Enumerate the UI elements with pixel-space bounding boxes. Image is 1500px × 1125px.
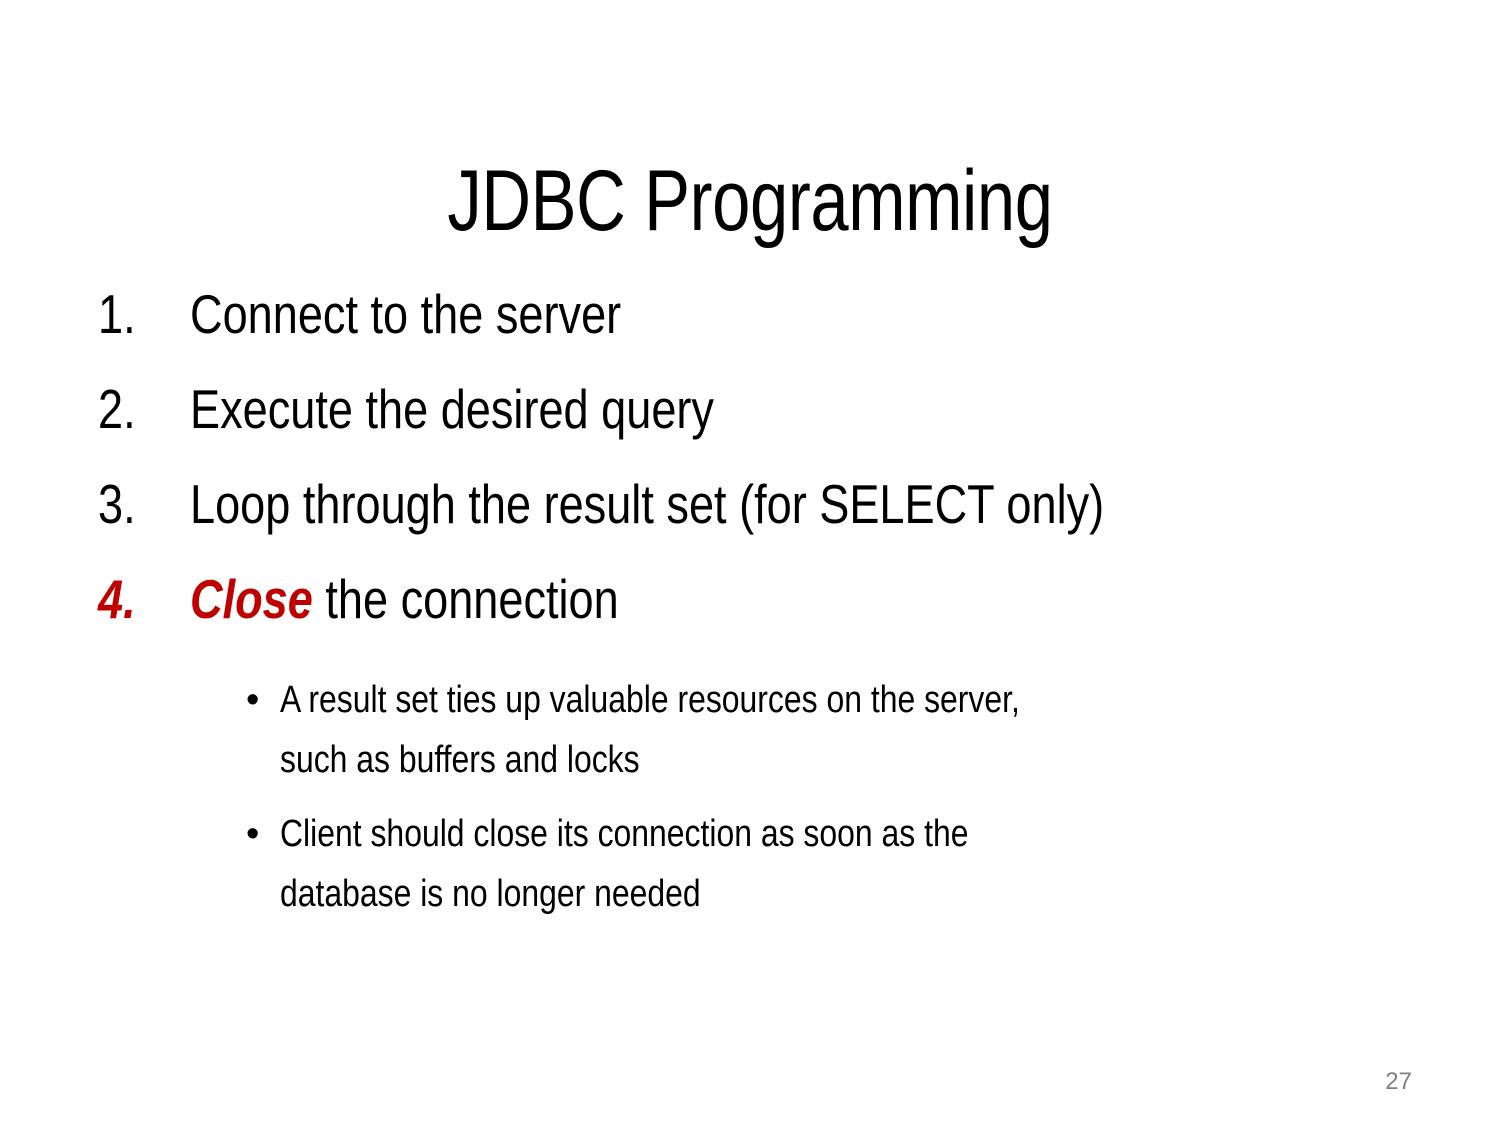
step-highlight-word: Close: [190, 568, 313, 630]
slide: JDBC Programming 1. Connect to the serve…: [0, 0, 1500, 1125]
step-text: Connect to the server: [190, 278, 1213, 350]
list-item-step-2: 2. Execute the desired query: [98, 373, 1438, 468]
step-marker: 2.: [98, 373, 173, 445]
step-text: Loop through the result set (for SELECT …: [190, 468, 1213, 540]
sub-bullet-line-1: Client should close its connection as so…: [280, 813, 968, 855]
sub-bullet-list: • A result set ties up valuable resource…: [98, 670, 1438, 924]
step-rest-text: the connection: [313, 568, 619, 630]
page-number: 27: [1385, 1067, 1412, 1097]
list-item-step-3: 3. Loop through the result set (for SELE…: [98, 468, 1438, 563]
bullet-icon: •: [246, 670, 280, 730]
sub-bullet-text: Client should close its connection as so…: [280, 804, 968, 924]
list-item-sub-2: • Client should close its connection as …: [246, 804, 1438, 924]
list-item-step-1: 1. Connect to the server: [98, 278, 1438, 373]
step-text: Close the connection: [190, 563, 1213, 635]
page-title: JDBC Programming: [150, 150, 1350, 252]
list-item-sub-1: • A result set ties up valuable resource…: [246, 670, 1438, 790]
sub-bullet-line-2: such as buffers and locks: [280, 739, 640, 781]
step-marker: 3.: [98, 468, 173, 540]
step-text: Execute the desired query: [190, 373, 1213, 445]
bullet-icon: •: [246, 804, 280, 864]
sub-bullet-line-1: A result set ties up valuable resources …: [280, 679, 1020, 721]
ordered-steps-list: 1. Connect to the server 2. Execute the …: [98, 278, 1438, 938]
list-item-step-4: 4. Close the connection: [98, 563, 1438, 658]
sub-bullet-text: A result set ties up valuable resources …: [280, 670, 1020, 790]
step-marker: 1.: [98, 278, 173, 350]
step-marker-highlighted: 4.: [98, 563, 173, 635]
sub-bullet-line-2: database is no longer needed: [280, 873, 701, 915]
